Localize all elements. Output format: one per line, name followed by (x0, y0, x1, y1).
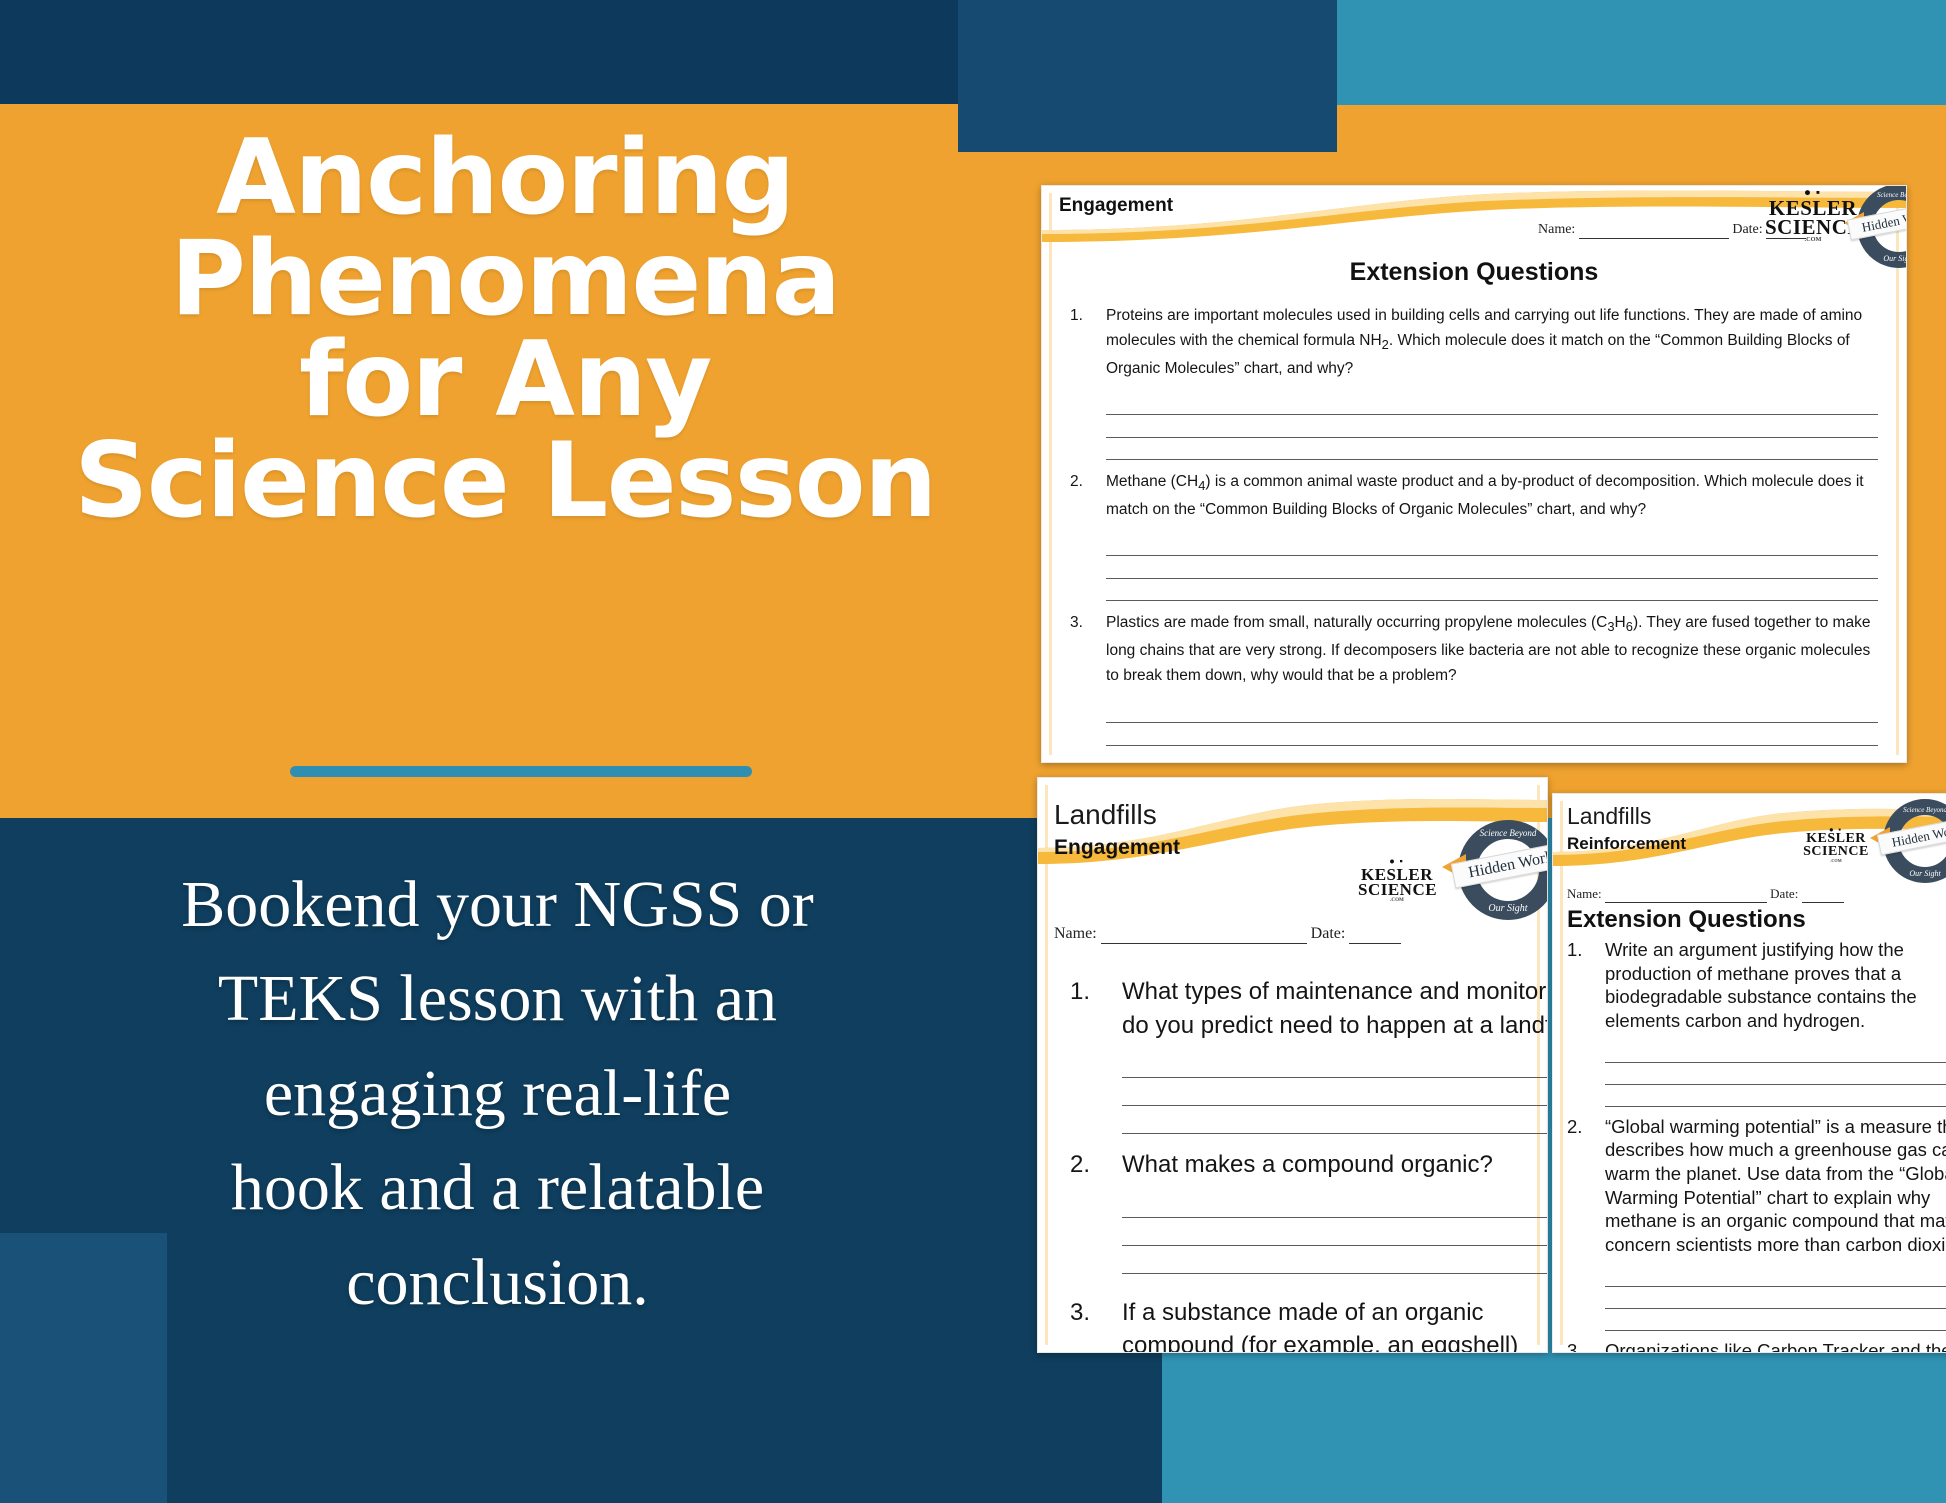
subhead-line-3: engaging real-life (30, 1047, 965, 1141)
question-text: What types of maintenance and monitoring… (1122, 975, 1548, 1042)
answer-lines[interactable] (1106, 533, 1878, 601)
badge-arc-top: Science Beyond (1883, 806, 1946, 814)
question-item: 2. “Global warming potential” is a measu… (1567, 1115, 1946, 1257)
subhead-line-5: conclusion. (30, 1236, 965, 1330)
question-item: 2. Methane (CH4) is a common animal wast… (1070, 469, 1878, 522)
question-list-3: 1. Write an argument justifying how the … (1567, 938, 1946, 1353)
headline-line-4: Science Lesson (0, 431, 1010, 532)
poster-subheadline: Bookend your NGSS or TEKS lesson with an… (30, 858, 965, 1330)
question-number: 3. (1070, 1296, 1122, 1330)
question-number: 2. (1070, 1148, 1122, 1182)
kesler-logo-tm: .COM (1803, 859, 1869, 863)
question-number: 1. (1070, 975, 1122, 1009)
hidden-world-badge: Science Beyond Our Sight Hidden World (1458, 820, 1548, 920)
worksheet-engagement-extension[interactable]: Engagement ● ▪ KESLER SCIENCE .COM Scien… (1041, 185, 1907, 763)
subhead-line-4: hook and a relatable (30, 1141, 965, 1235)
question-text: Organizations like Carbon Tracker and th… (1605, 1339, 1946, 1353)
question-number: 2. (1567, 1115, 1605, 1139)
answer-lines[interactable] (1106, 700, 1878, 746)
worksheet-landfills-engagement[interactable]: Landfills Engagement ● ▪ KESLER SCIENCE … (1037, 777, 1548, 1353)
name-label: Name: (1054, 925, 1097, 942)
answer-lines[interactable] (1122, 1190, 1548, 1274)
question-text: Proteins are important molecules used in… (1106, 303, 1878, 381)
badge-arc-top: Science Beyond (1458, 828, 1548, 838)
headline-line-2: Phenomena (0, 229, 1010, 330)
kesler-logo-line2: SCIENCE (1803, 844, 1869, 859)
question-list-2: 1. What types of maintenance and monitor… (1070, 975, 1548, 1353)
question-item: 3. Plastics are made from small, natural… (1070, 610, 1878, 688)
question-text: “Global warming potential” is a measure … (1605, 1115, 1946, 1257)
badge-arc-bottom: Our Sight (1857, 254, 1907, 263)
poster-headline: Anchoring Phenomena for Any Science Less… (0, 128, 1010, 532)
name-label: Name: (1567, 886, 1602, 901)
question-item: 1. Proteins are important molecules used… (1070, 303, 1878, 381)
question-number: 1. (1567, 938, 1605, 962)
question-item: 1. What types of maintenance and monitor… (1070, 975, 1548, 1042)
name-input-blank[interactable] (1605, 886, 1767, 903)
question-text: If a substance made of an organic compou… (1122, 1296, 1548, 1353)
sheet-topic-label: Landfills (1567, 804, 1686, 829)
date-input-blank[interactable] (1802, 886, 1844, 903)
sheet-header-3: Landfills Reinforcement (1567, 804, 1686, 854)
worksheet-landfills-reinforcement[interactable]: Landfills Reinforcement ● ▪ KESLER SCIEN… (1552, 793, 1946, 1353)
subhead-line-1: Bookend your NGSS or (30, 858, 965, 952)
poster-canvas: Anchoring Phenomena for Any Science Less… (0, 0, 1946, 1503)
sheet-phase-label: Engagement (1059, 195, 1173, 217)
background-navy-top-band (0, 0, 958, 104)
question-number: 2. (1070, 469, 1106, 494)
sheet-header-2: Landfills Engagement (1054, 800, 1180, 860)
headline-divider-rule (290, 766, 752, 777)
question-item: 3. If a substance made of an organic com… (1070, 1296, 1548, 1353)
sheet-topic-label: Landfills (1054, 800, 1180, 830)
subhead-line-2: TEKS lesson with an (30, 952, 965, 1046)
badge-arc-top: Science Beyond (1857, 191, 1907, 199)
sheet-header-1: Engagement (1059, 195, 1173, 217)
section-title-3: Extension Questions (1567, 906, 1806, 934)
question-text: Plastics are made from small, naturally … (1106, 610, 1878, 688)
answer-lines[interactable] (1122, 1050, 1548, 1134)
sheet-phase-label: Engagement (1054, 836, 1180, 860)
headline-line-1: Anchoring (0, 128, 1010, 229)
question-item: 3. Organizations like Carbon Tracker and… (1567, 1339, 1946, 1353)
answer-lines[interactable] (1106, 392, 1878, 460)
kesler-science-logo: ● ▪ KESLER SCIENCE .COM (1803, 826, 1869, 863)
kesler-science-logo: ● ▪ KESLER SCIENCE .COM (1358, 858, 1436, 903)
date-label: Date: (1770, 886, 1798, 901)
question-item: 2. What makes a compound organic? (1070, 1148, 1548, 1182)
section-title-1: Extension Questions (1042, 258, 1906, 287)
name-input-blank[interactable] (1101, 925, 1307, 944)
question-text: Methane (CH4) is a common animal waste p… (1106, 469, 1878, 522)
badge-arc-bottom: Our Sight (1883, 869, 1946, 878)
question-text: What makes a compound organic? (1122, 1148, 1548, 1182)
date-label: Date: (1732, 222, 1762, 237)
name-date-row-2: Name: Date: (1054, 925, 1401, 944)
question-number: 3. (1567, 1339, 1605, 1353)
question-number: 1. (1070, 303, 1106, 328)
question-item: 1. Write an argument justifying how the … (1567, 938, 1946, 1033)
hidden-world-badge: Science Beyond Our Sight Hidden World (1857, 185, 1907, 268)
headline-line-3: for Any (0, 330, 1010, 431)
question-text: Write an argument justifying how the pro… (1605, 938, 1946, 1033)
background-navy-square (958, 0, 1337, 152)
question-number: 3. (1070, 610, 1106, 635)
date-label: Date: (1311, 925, 1346, 942)
answer-lines[interactable] (1605, 1265, 1946, 1331)
date-input-blank[interactable] (1349, 925, 1401, 944)
name-date-row-3: Name: Date: (1567, 886, 1844, 903)
question-list-1: 1. Proteins are important molecules used… (1070, 303, 1878, 746)
badge-arc-bottom: Our Sight (1458, 903, 1548, 914)
name-label: Name: (1538, 222, 1575, 237)
hidden-world-badge: Science Beyond Our Sight Hidden World (1883, 799, 1946, 883)
answer-lines[interactable] (1605, 1041, 1946, 1107)
name-input-blank[interactable] (1579, 222, 1729, 239)
sheet-phase-label: Reinforcement (1567, 834, 1686, 854)
